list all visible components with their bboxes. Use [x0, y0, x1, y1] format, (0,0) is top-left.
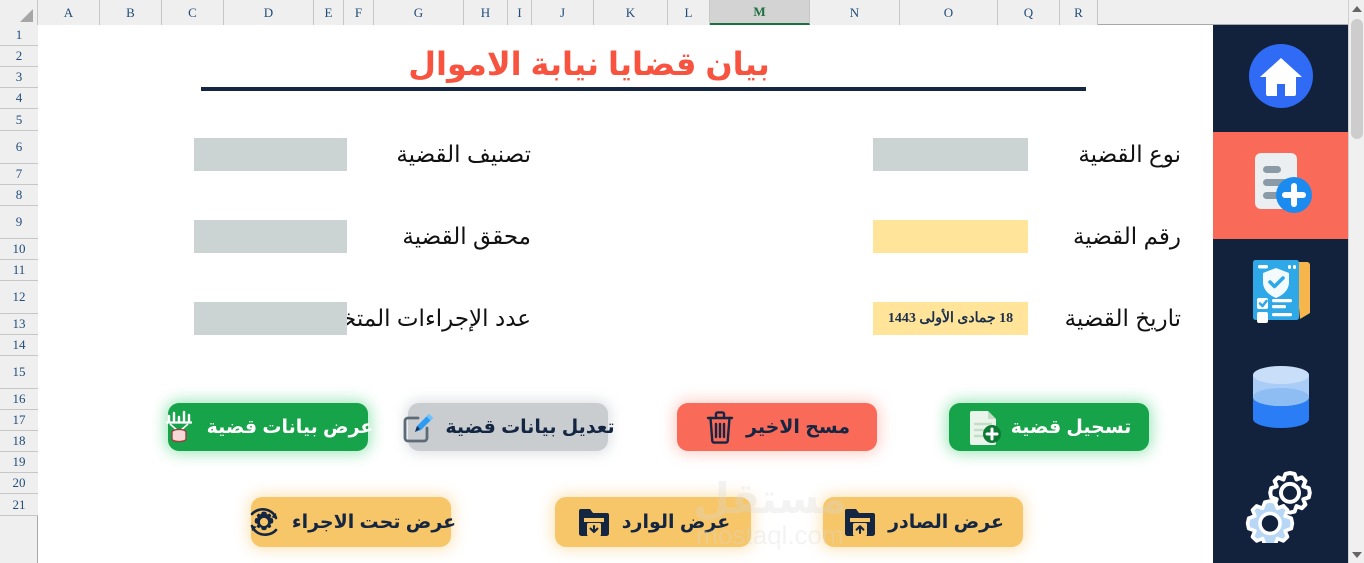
sidebar-item-reports[interactable]: [1213, 239, 1348, 346]
column-header-c[interactable]: C: [162, 0, 224, 25]
view-in-progress-button[interactable]: عرض تحت الاجراء: [251, 497, 451, 547]
column-header-k[interactable]: K: [594, 0, 668, 25]
row-header-10[interactable]: 10: [0, 239, 38, 260]
row-header-15[interactable]: 15: [0, 356, 38, 389]
row-header-5[interactable]: 5: [0, 109, 38, 131]
field-input-case-type[interactable]: [873, 138, 1028, 171]
field-label: رقم القضية: [1073, 217, 1181, 255]
field-input-case-classification[interactable]: [194, 138, 347, 171]
button-label: عرض تحت الاجراء: [292, 513, 456, 532]
field-value: [873, 220, 1028, 253]
column-header-r[interactable]: R: [1060, 0, 1098, 25]
field-value: [873, 138, 1028, 171]
edit-case-button[interactable]: تعديل بيانات قضية: [408, 403, 608, 451]
row-header-21[interactable]: 21: [0, 494, 38, 516]
field-label: تاريخ القضية: [1065, 299, 1181, 337]
field-label: تصنيف القضية: [396, 135, 531, 173]
row-header-20[interactable]: 20: [0, 473, 38, 494]
home-icon: [1244, 39, 1318, 118]
row-header-17[interactable]: 17: [0, 410, 38, 431]
button-label: تعديل بيانات قضية: [445, 418, 614, 437]
gears-icon: [1240, 465, 1322, 548]
column-header-f[interactable]: F: [344, 0, 374, 25]
column-header-m[interactable]: M: [710, 0, 810, 25]
row-header-13[interactable]: 13: [0, 314, 38, 335]
folder-upload-icon: [842, 505, 878, 539]
view-incoming-button[interactable]: عرض الوارد: [555, 497, 751, 547]
row-header-19[interactable]: 19: [0, 452, 38, 473]
sidebar-item-home[interactable]: [1213, 25, 1348, 132]
document-add-icon: [967, 409, 1001, 445]
chart-database-icon: [163, 410, 197, 444]
column-header-j[interactable]: J: [532, 0, 594, 25]
row-header-6[interactable]: 6: [0, 131, 38, 164]
field-label: نوع القضية: [1078, 135, 1181, 173]
button-label: تسجيل قضية: [1011, 418, 1132, 437]
row-header-14[interactable]: 14: [0, 335, 38, 356]
column-header-l[interactable]: L: [668, 0, 710, 25]
row-header-column: 123456789101112131415161718192021: [0, 25, 38, 563]
field-case-type: نوع القضية: [833, 135, 1213, 173]
column-header-h[interactable]: H: [464, 0, 508, 25]
view-case-data-button[interactable]: عرض بيانات قضية: [168, 403, 368, 451]
button-label: مسح الاخير: [746, 418, 850, 437]
checklist-shield-icon: [1243, 252, 1319, 333]
row-header-8[interactable]: 8: [0, 185, 38, 206]
select-all-corner[interactable]: [0, 0, 38, 25]
column-header-d[interactable]: D: [224, 0, 314, 25]
field-input-actions-count[interactable]: [194, 302, 347, 335]
field-actions-count: عدد الإجراءات المتخذة: [183, 299, 603, 337]
database-cylinder-icon: [1241, 361, 1321, 438]
row-header-18[interactable]: 18: [0, 431, 38, 452]
scroll-up-icon[interactable]: [1349, 0, 1364, 17]
field-value: 18 جمادى الأولى 1443: [873, 302, 1028, 335]
row-header-16[interactable]: 16: [0, 389, 38, 410]
column-header-e[interactable]: E: [314, 0, 344, 25]
column-header-i[interactable]: I: [508, 0, 532, 25]
field-input-case-date[interactable]: 18 جمادى الأولى 1443: [873, 302, 1028, 335]
trash-icon: [704, 409, 736, 445]
field-value: [194, 138, 347, 171]
column-header-q[interactable]: Q: [998, 0, 1060, 25]
field-case-number: رقم القضية: [833, 217, 1213, 255]
sidebar-item-settings[interactable]: [1213, 453, 1348, 560]
sidebar-item-database[interactable]: [1213, 346, 1348, 453]
view-outgoing-button[interactable]: عرض الصادر: [823, 497, 1023, 547]
row-header-9[interactable]: 9: [0, 206, 38, 239]
button-label: عرض الصادر: [888, 513, 1004, 532]
field-input-case-number[interactable]: [873, 220, 1028, 253]
row-header-2[interactable]: 2: [0, 46, 38, 67]
field-value: [194, 302, 347, 335]
gear-refresh-icon: [246, 505, 282, 539]
document-add-icon: [1241, 143, 1321, 228]
button-label: عرض الوارد: [622, 513, 730, 532]
field-label: محقق القضية: [402, 217, 531, 255]
field-label: عدد الإجراءات المتخذة: [318, 299, 531, 337]
field-input-case-investigator[interactable]: [194, 220, 347, 253]
field-case-date: تاريخ القضية 18 جمادى الأولى 1443: [833, 299, 1213, 337]
title-underline: [201, 87, 1086, 91]
sidebar-item-new-case[interactable]: [1213, 132, 1348, 239]
delete-last-button[interactable]: مسح الاخير: [677, 403, 877, 451]
row-header-4[interactable]: 4: [0, 88, 38, 109]
field-case-classification: تصنيف القضية: [183, 135, 603, 173]
row-header-1[interactable]: 1: [0, 25, 38, 46]
right-sidebar: [1213, 25, 1348, 563]
edit-pencil-icon: [401, 410, 435, 444]
column-header-row: ABCDEFGHIJKLMNOQR: [0, 0, 1364, 25]
button-label: عرض بيانات قضية: [207, 418, 374, 437]
column-header-n[interactable]: N: [810, 0, 900, 25]
scrollbar-thumb[interactable]: [1351, 19, 1363, 139]
field-value: [194, 220, 347, 253]
column-header-o[interactable]: O: [900, 0, 998, 25]
sheet-content: بيان قضايا نيابة الاموال نوع القضية رقم …: [39, 25, 1213, 563]
row-header-12[interactable]: 12: [0, 281, 38, 314]
scroll-down-icon[interactable]: [1349, 546, 1364, 563]
column-header-g[interactable]: G: [374, 0, 464, 25]
row-header-3[interactable]: 3: [0, 67, 38, 88]
row-header-7[interactable]: 7: [0, 164, 38, 185]
page-title: بيان قضايا نيابة الاموال: [39, 45, 1139, 83]
vertical-scrollbar[interactable]: [1348, 0, 1364, 563]
register-case-button[interactable]: تسجيل قضية: [949, 403, 1149, 451]
folder-download-icon: [576, 505, 612, 539]
spreadsheet-app: ABCDEFGHIJKLMNOQR 1234567891011121314151…: [0, 0, 1364, 563]
column-header-b[interactable]: B: [100, 0, 162, 25]
row-header-11[interactable]: 11: [0, 260, 38, 281]
field-case-investigator: محقق القضية: [183, 217, 603, 255]
column-header-a[interactable]: A: [38, 0, 100, 25]
